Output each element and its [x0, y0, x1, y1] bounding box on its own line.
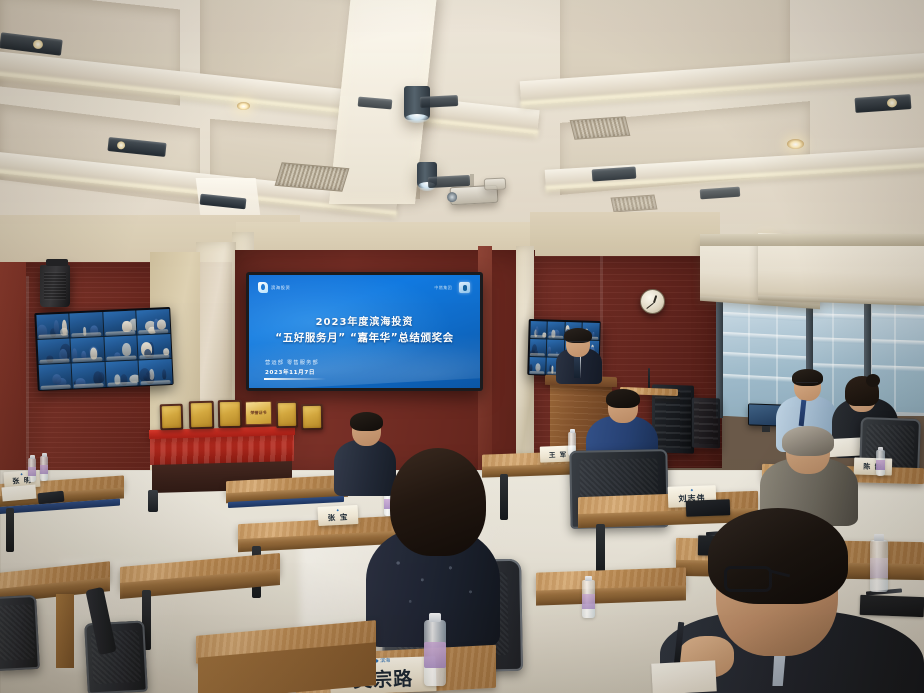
award-plaque-3 — [218, 400, 242, 428]
nameplate-right-far: 陈 静 — [854, 458, 892, 476]
wall-speaker-left — [40, 265, 70, 307]
water-bottle-7[interactable] — [582, 580, 595, 618]
water-bottle-5[interactable] — [876, 450, 885, 476]
water-bottle-front[interactable] — [424, 620, 446, 686]
slide-underline — [264, 378, 326, 380]
conference-room-photo: 滨海投资 中燃集团 2023年度滨海投资 “五好服务月” “嘉年华”总结颁奖会 … — [0, 0, 924, 693]
video-tile[interactable] — [105, 361, 139, 387]
left-video-wall — [34, 307, 173, 391]
company-logo-icon — [258, 282, 268, 293]
water-bottle-2[interactable] — [40, 456, 48, 481]
slide-logo-text: 滨海投资 — [271, 285, 291, 290]
desk-left-back-leg — [6, 508, 14, 552]
slide-logo: 滨海投资 — [258, 282, 291, 293]
paper-foreground — [651, 660, 717, 693]
equipment-rack-2 — [692, 398, 720, 449]
paper-left-1 — [1, 485, 36, 502]
ceiling-downlight-2 — [237, 102, 250, 110]
slide-badge-icon — [459, 282, 470, 293]
award-plaque-1 — [160, 404, 184, 431]
water-bottle-6[interactable] — [870, 540, 888, 592]
slide-subtitle-dept: 营运部 零售服务部 — [265, 359, 319, 366]
award-certificate: 荣誉证书 — [245, 401, 272, 425]
video-tile[interactable] — [529, 339, 546, 356]
video-tile[interactable] — [103, 310, 137, 336]
notebook-right-2 — [860, 595, 924, 617]
attendee-grey-hair-hair — [782, 426, 834, 456]
floor-cable-box — [148, 490, 158, 512]
monitor-stand — [762, 426, 770, 432]
notebook-center — [686, 499, 731, 517]
desk-left-front-end-panel — [56, 594, 74, 668]
video-tile[interactable] — [104, 335, 138, 361]
window-glass-3 — [872, 291, 924, 413]
attendee-woman-right-bun — [866, 374, 880, 387]
ceiling-slot-light-5 — [420, 95, 459, 108]
microphone-stand — [648, 368, 650, 388]
speaker-glasses-icon — [568, 341, 588, 345]
desk-center-row-leg — [500, 474, 508, 520]
video-tile[interactable] — [70, 337, 104, 363]
blind-headrail — [700, 234, 924, 246]
nameplate-mid-left: ◆ 张 宝 — [318, 505, 359, 526]
speaker-tie — [574, 356, 580, 378]
attendee-back-left-hair — [350, 412, 383, 431]
video-tile[interactable] — [136, 309, 170, 335]
video-tile[interactable] — [530, 321, 547, 338]
video-tile[interactable] — [547, 321, 564, 338]
water-bottle-1[interactable] — [28, 458, 36, 482]
ceiling-downlight-1 — [787, 139, 804, 149]
award-plaque-6 — [301, 404, 323, 430]
video-tile[interactable] — [139, 359, 173, 385]
slide-title-line1: 2023年度滨海投资 — [249, 313, 480, 328]
slide-corner-tag: 中燃集团 — [434, 285, 452, 291]
hvac-vent-2 — [570, 116, 631, 140]
wall-speaker-bracket — [46, 259, 68, 266]
video-tile[interactable] — [137, 334, 171, 360]
attendee-back-left-torso — [334, 440, 396, 496]
attendee-foreground-right-glasses-icon — [724, 566, 772, 592]
chair-left-front[interactable] — [0, 595, 40, 671]
video-tile[interactable] — [529, 357, 546, 374]
award-plaque-5 — [276, 401, 298, 428]
award-plaque-2 — [189, 401, 215, 430]
upper-wall-right — [530, 212, 720, 258]
presentation-screen: 滨海投资 中燃集团 2023年度滨海投资 “五好服务月” “嘉年华”总结颁奖会 … — [246, 272, 483, 391]
attendee-blue-suit-hair — [606, 389, 640, 408]
attendee-woman-center-hair — [390, 448, 486, 556]
slide-subtitle-date: 2023年11月7日 — [265, 368, 315, 376]
slide-title-line2: “五好服务月” “嘉年华”总结颁奖会 — [249, 330, 480, 345]
video-tile[interactable] — [38, 364, 72, 390]
video-tile[interactable] — [37, 338, 71, 364]
projector-bracket — [484, 177, 507, 190]
attendee-glasses-icon — [796, 382, 818, 386]
video-tile[interactable] — [36, 313, 70, 339]
video-tile[interactable] — [72, 362, 106, 388]
hvac-vent-3 — [610, 195, 657, 213]
video-tile[interactable] — [69, 312, 103, 338]
wall-clock — [640, 289, 665, 314]
